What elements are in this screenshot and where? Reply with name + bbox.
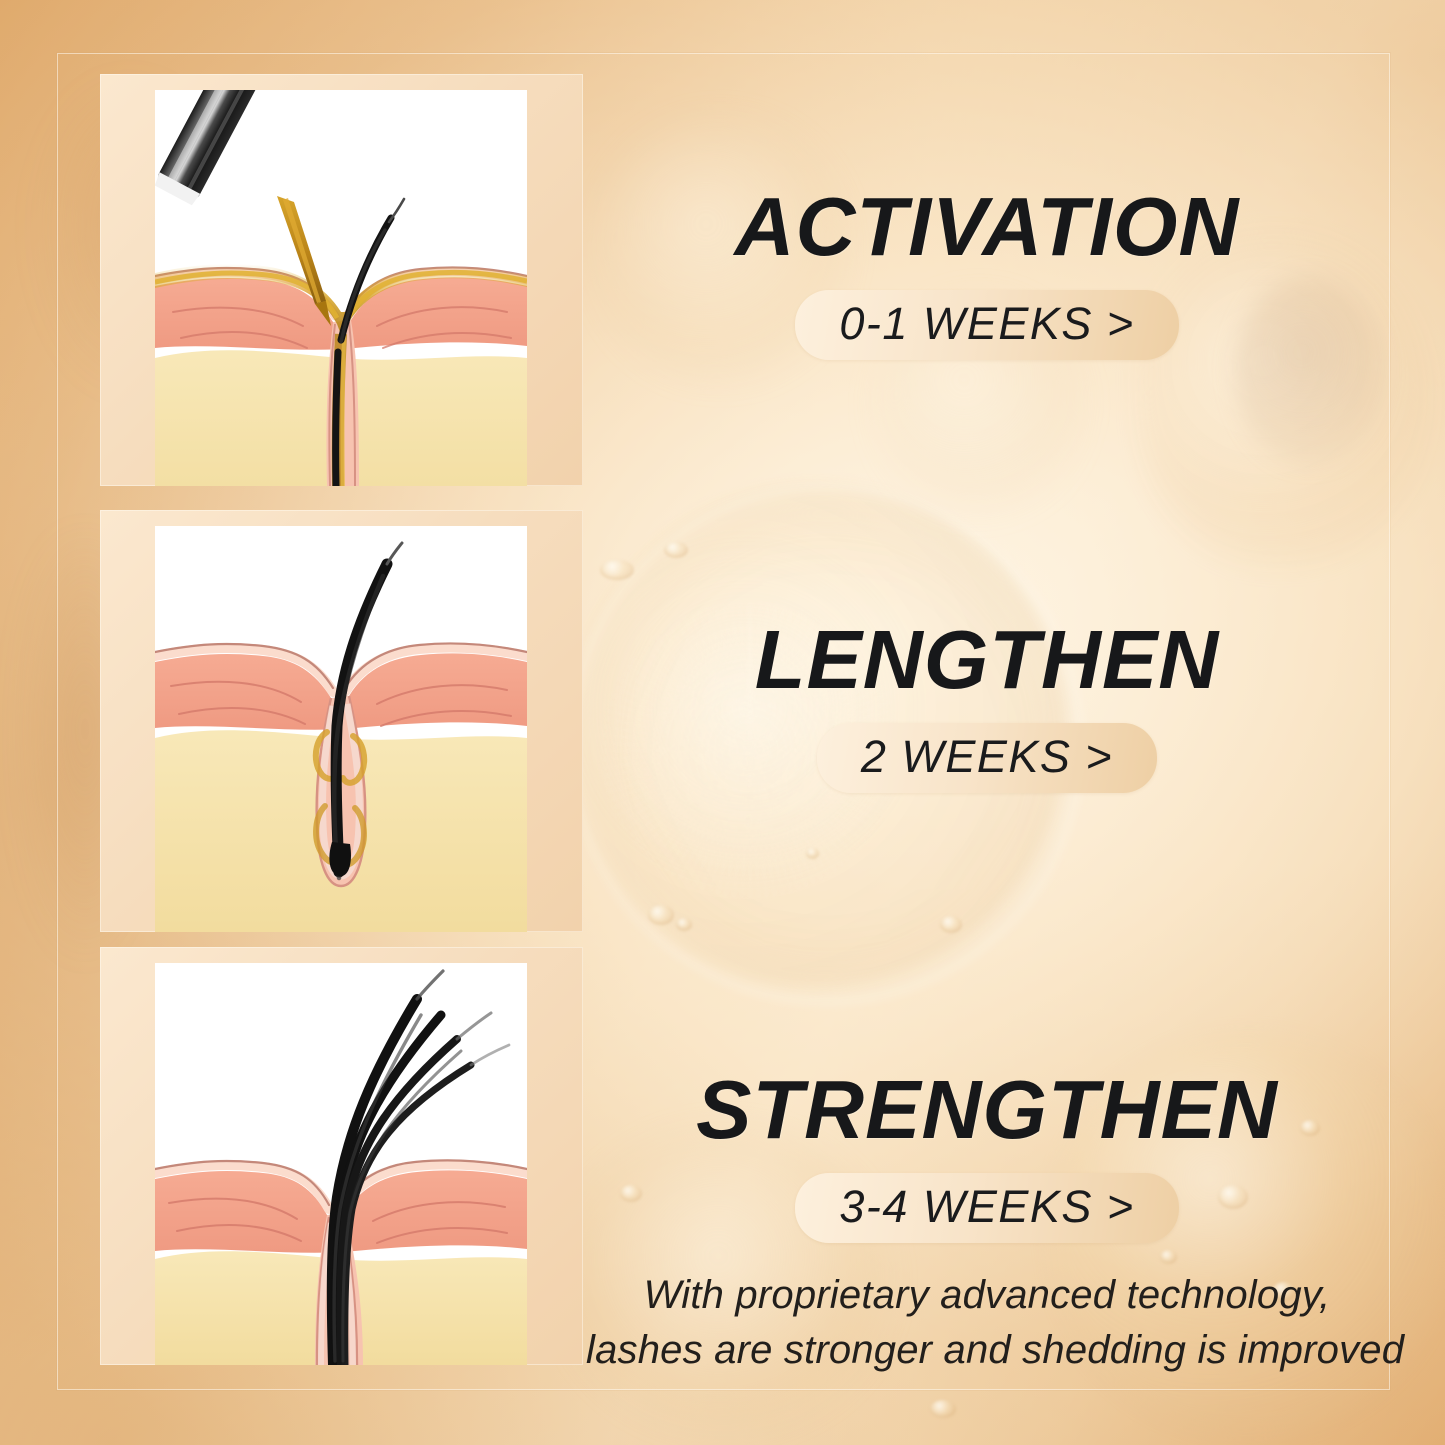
step-badge-lengthen[interactable]: 2 WEEKS >: [817, 723, 1157, 793]
step-title-activation: ACTIVATION: [586, 185, 1388, 268]
step-title-strengthen: STRENGTHEN: [586, 1068, 1388, 1151]
lengthen-illustration: [155, 526, 527, 932]
background-minidrop: [600, 560, 634, 580]
background-minidrop: [648, 905, 674, 925]
activation-illustration: [155, 90, 527, 486]
step-illustration-panel-activation: [100, 74, 583, 486]
background-minidrop: [940, 916, 962, 933]
step-block-strengthen: STRENGTHEN 3-4 WEEKS >: [586, 1068, 1388, 1243]
description-line-2: lashes are stronger and shedding is impr…: [586, 1323, 1388, 1378]
description-line-1: With proprietary advanced technology,: [586, 1268, 1388, 1323]
background-minidrop: [806, 848, 819, 859]
step-badge-label-activation: 0-1 WEEKS >: [839, 298, 1134, 349]
infographic-canvas: ACTIVATION 0-1 WEEKS > LENGTHEN 2 WEEKS …: [0, 0, 1445, 1445]
step-badge-activation[interactable]: 0-1 WEEKS >: [795, 290, 1178, 360]
step-illustration-panel-strengthen: [100, 947, 583, 1365]
background-minidrop: [1160, 1250, 1177, 1264]
background-minidrop: [676, 918, 692, 931]
background-minidrop: [930, 1400, 956, 1418]
description-text: With proprietary advanced technology, la…: [586, 1268, 1388, 1378]
strengthen-illustration: [155, 963, 527, 1365]
step-block-activation: ACTIVATION 0-1 WEEKS >: [586, 185, 1388, 360]
step-badge-strengthen[interactable]: 3-4 WEEKS >: [795, 1173, 1178, 1243]
follicle-single-lash-diagram-icon: [155, 526, 527, 932]
step-block-lengthen: LENGTHEN 2 WEEKS >: [586, 618, 1388, 793]
step-title-lengthen: LENGTHEN: [586, 618, 1388, 701]
follicle-serum-diagram-icon: [155, 90, 527, 486]
step-badge-label-strengthen: 3-4 WEEKS >: [839, 1181, 1134, 1232]
step-badge-label-lengthen: 2 WEEKS >: [861, 731, 1113, 782]
follicle-multiple-lashes-diagram-icon: [155, 963, 527, 1365]
step-illustration-panel-lengthen: [100, 510, 583, 932]
background-minidrop: [664, 542, 688, 558]
